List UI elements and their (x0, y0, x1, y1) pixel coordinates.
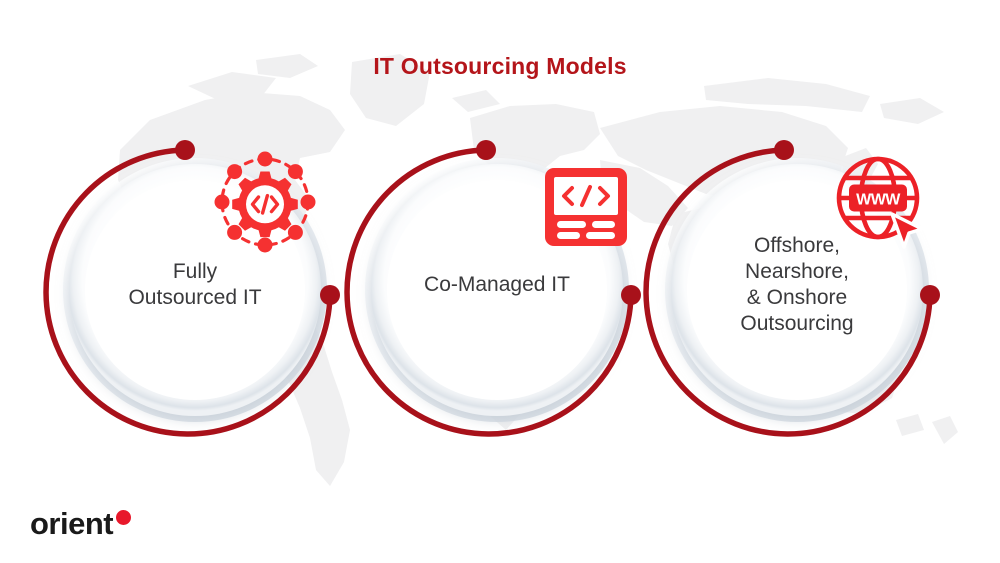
node-label-offshore-nearshore-onshore: Offshore, Nearshore, & Onshore Outsourci… (677, 233, 917, 337)
arc-start-dot (175, 140, 195, 160)
brand-logo-wordmark: orient (30, 508, 113, 539)
arc-end-dot (621, 285, 641, 305)
node-label-co-managed-it: Co-Managed IT (377, 272, 617, 298)
www-banner-label: WWW (856, 192, 901, 209)
brand-logo-dot (116, 510, 131, 525)
node-label-fully-outsourced-it: Fully Outsourced IT (75, 259, 315, 311)
arc-start-dot (476, 140, 496, 160)
brand-logo[interactable]: orient (30, 508, 131, 539)
arc-end-dot (320, 285, 340, 305)
code-window-icon (545, 168, 627, 246)
arc-start-dot (774, 140, 794, 160)
infographic-canvas: IT Outsourcing Models (0, 0, 1000, 563)
arc-end-dot (920, 285, 940, 305)
